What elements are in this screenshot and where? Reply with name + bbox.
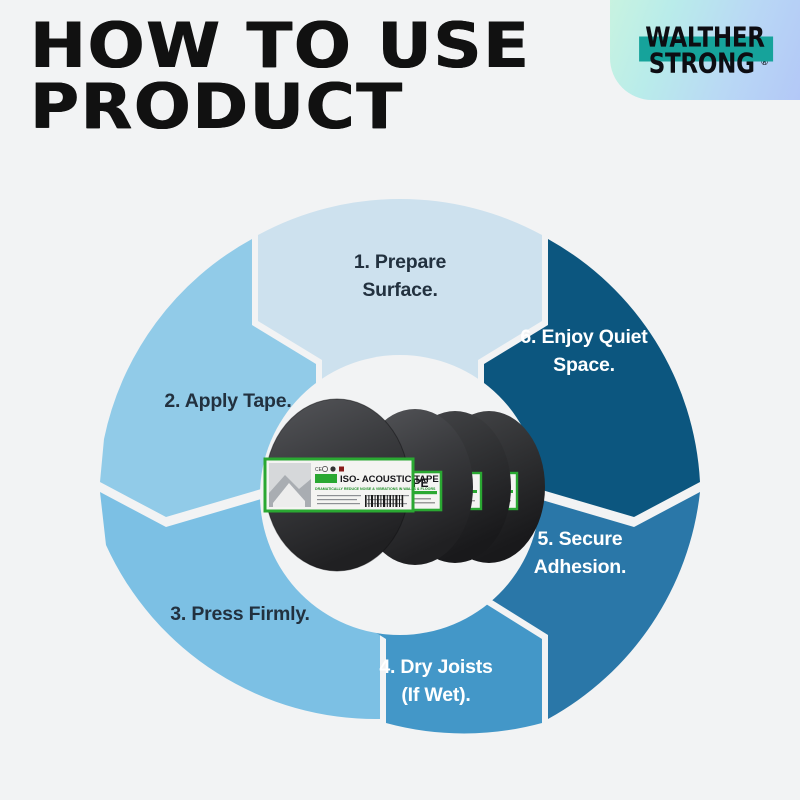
cycle-segment-4-label-line1: 4. Dry Joists	[379, 656, 493, 678]
product-tagline: DRAMATICALLY REDUCE NOISE & VIBRATIONS I…	[315, 487, 436, 491]
logo-wordmark: WALTHER STRONG®	[638, 25, 772, 76]
page-title: HOW TO USE PRODUCT	[30, 16, 635, 138]
brand-logo: WALTHER STRONG®	[610, 0, 800, 100]
cycle-segment-1-label-line1: 1. Prepare	[354, 251, 447, 273]
cycle-segment-1-label-line2: Surface.	[362, 279, 437, 301]
product-photo: TAPE TAPE TAPE	[255, 395, 555, 575]
cycle-segment-4-label-line2: (If Wet).	[401, 684, 470, 706]
cycle-segment-6-label-line2: Space.	[553, 354, 615, 376]
cycle-segment-3-label-line1: 3. Press Firmly.	[170, 603, 310, 625]
brand-block	[315, 474, 337, 483]
svg-text:CE: CE	[315, 467, 323, 473]
cycle-segment-6-label-line1: 6. Enjoy Quiet	[520, 326, 648, 348]
product-name: ISO- ACOUSTIC TAPE	[340, 474, 439, 485]
logo-line-strong: STRONG	[647, 49, 757, 77]
